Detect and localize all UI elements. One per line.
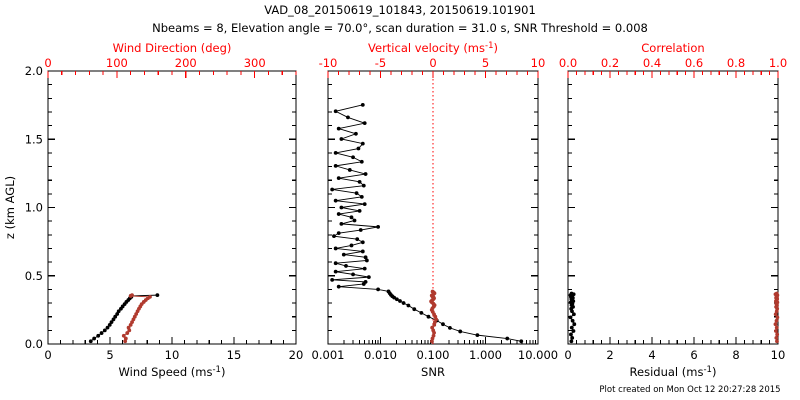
series-point bbox=[364, 172, 368, 176]
series-point bbox=[148, 295, 152, 299]
xtick-label-wind: 5 bbox=[106, 348, 113, 362]
panel-frame-wind bbox=[48, 71, 296, 344]
series-point bbox=[346, 116, 350, 120]
series-point bbox=[774, 329, 778, 333]
xaxis-top-label-residual: Correlation bbox=[641, 41, 704, 55]
xtick-label-residual: 10 bbox=[771, 348, 786, 362]
series-point bbox=[458, 330, 462, 334]
series-point bbox=[130, 293, 134, 297]
series-point bbox=[350, 244, 354, 248]
series-point bbox=[337, 176, 341, 180]
series-point bbox=[337, 231, 341, 235]
series-point bbox=[342, 253, 346, 257]
vad-profile-figure: VAD_08_20150619_101843, 20150619.101901N… bbox=[0, 0, 800, 400]
series-point bbox=[361, 103, 365, 107]
series-point bbox=[441, 322, 445, 326]
series-line-snr bbox=[332, 105, 521, 341]
series-point bbox=[330, 188, 334, 192]
series-point bbox=[353, 219, 357, 223]
xtick-label-wind: 10 bbox=[165, 348, 180, 362]
xtick-label-wind: 15 bbox=[227, 348, 242, 362]
series-point bbox=[334, 199, 338, 203]
series-point bbox=[332, 234, 336, 238]
series-point bbox=[359, 228, 363, 232]
xtick-label-residual: 0 bbox=[564, 348, 571, 362]
panel-frame-residual bbox=[568, 71, 778, 344]
xtick-top-label-residual: 1.0 bbox=[769, 56, 787, 70]
series-point bbox=[572, 322, 576, 326]
series-point bbox=[360, 160, 364, 164]
ytick-label: 1.5 bbox=[25, 132, 43, 146]
series-point bbox=[363, 267, 367, 271]
series-point bbox=[569, 333, 573, 337]
series-point bbox=[570, 326, 574, 330]
series-point bbox=[103, 328, 107, 332]
series-point bbox=[334, 164, 338, 168]
xaxis-top-label-wind: Wind Direction (deg) bbox=[113, 41, 232, 55]
series-point bbox=[355, 191, 359, 195]
series-point bbox=[448, 326, 452, 330]
series-point bbox=[427, 315, 431, 319]
figure-title: VAD_08_20150619_101843, 20150619.101901 bbox=[264, 3, 536, 17]
ytick-label: 0.0 bbox=[25, 337, 43, 351]
series-point bbox=[155, 293, 159, 297]
ytick-label: 2.0 bbox=[25, 64, 43, 78]
series-point bbox=[376, 225, 380, 229]
series-point bbox=[334, 247, 338, 251]
series-point bbox=[361, 142, 365, 146]
xtick-top-label-residual: 0.2 bbox=[601, 56, 619, 70]
series-point bbox=[340, 206, 344, 210]
xaxis-top-label-snr: Vertical velocity (ms-1) bbox=[368, 41, 498, 55]
series-point bbox=[89, 339, 93, 343]
series-point bbox=[344, 264, 348, 268]
series-point bbox=[775, 333, 779, 337]
xtick-label-snr: 10.000 bbox=[518, 348, 558, 362]
series-point bbox=[340, 137, 344, 141]
series-point bbox=[774, 322, 778, 326]
series-point bbox=[358, 180, 362, 184]
series-point bbox=[475, 333, 479, 337]
xtick-label-residual: 4 bbox=[648, 348, 655, 362]
series-point bbox=[419, 311, 423, 315]
series-point bbox=[775, 326, 779, 330]
xtick-label-residual: 8 bbox=[732, 348, 739, 362]
xtick-top-label-snr: 10 bbox=[531, 56, 546, 70]
xaxis-label-residual: Residual (ms-1) bbox=[630, 365, 717, 379]
series-point bbox=[351, 155, 355, 159]
xtick-label-snr: 0.010 bbox=[364, 348, 397, 362]
series-point bbox=[363, 202, 367, 206]
series-point bbox=[412, 307, 416, 311]
series-point bbox=[100, 331, 104, 335]
xtick-top-label-residual: 0.0 bbox=[559, 56, 577, 70]
xtick-top-label-residual: 0.6 bbox=[685, 56, 703, 70]
xtick-label-snr: 0.100 bbox=[417, 348, 450, 362]
creation-timestamp: Plot created on Mon Oct 12 20:27:28 2015 bbox=[599, 385, 780, 395]
series-point bbox=[775, 292, 779, 296]
xtick-label-residual: 6 bbox=[690, 348, 697, 362]
xtick-top-label-residual: 0.4 bbox=[643, 56, 661, 70]
plot-canvas: VAD_08_20150619_101843, 20150619.101901N… bbox=[0, 0, 800, 400]
xaxis-label-snr: SNR bbox=[421, 365, 445, 379]
series-point bbox=[570, 336, 574, 340]
series-point bbox=[570, 292, 574, 296]
series-point bbox=[505, 337, 509, 341]
series-point bbox=[354, 132, 358, 136]
xtick-label-wind: 0 bbox=[44, 348, 51, 362]
xtick-top-label-wind: 0 bbox=[44, 56, 51, 70]
xtick-top-label-snr: -10 bbox=[319, 56, 338, 70]
xtick-top-label-wind: 200 bbox=[175, 56, 197, 70]
series-point bbox=[350, 215, 354, 219]
series-point bbox=[569, 315, 573, 319]
series-point bbox=[361, 240, 365, 244]
series-point bbox=[360, 195, 364, 199]
series-point bbox=[774, 336, 778, 340]
series-point bbox=[364, 255, 368, 259]
series-point bbox=[355, 237, 359, 241]
series-point bbox=[775, 319, 779, 323]
figure-subtitle: Nbeams = 8, Elevation angle = 70.0°, sca… bbox=[152, 21, 648, 35]
series-point bbox=[431, 290, 435, 294]
series-point bbox=[361, 250, 365, 254]
series-point bbox=[96, 334, 100, 338]
series-point bbox=[363, 121, 367, 125]
series-point bbox=[334, 261, 338, 265]
xtick-label-wind: 20 bbox=[289, 348, 304, 362]
series-point bbox=[367, 275, 371, 279]
ytick-label: 0.5 bbox=[25, 269, 43, 283]
series-point bbox=[334, 270, 338, 274]
series-point bbox=[337, 127, 341, 131]
series-point bbox=[572, 329, 576, 333]
series-point bbox=[376, 288, 380, 292]
series-point bbox=[92, 337, 96, 341]
xtick-top-label-wind: 100 bbox=[106, 56, 128, 70]
series-point bbox=[337, 285, 341, 289]
xtick-top-label-snr: 5 bbox=[482, 56, 489, 70]
series-point bbox=[337, 212, 341, 216]
series-point bbox=[340, 222, 344, 226]
xtick-top-label-wind: 300 bbox=[244, 56, 266, 70]
series-point bbox=[351, 272, 355, 276]
series-point bbox=[519, 339, 523, 343]
xtick-top-label-residual: 0.8 bbox=[727, 56, 745, 70]
series-point bbox=[402, 301, 406, 305]
series-point bbox=[330, 278, 334, 282]
series-point bbox=[387, 290, 391, 294]
xtick-label-snr: 1.000 bbox=[469, 348, 502, 362]
series-point bbox=[334, 109, 338, 113]
series-point bbox=[571, 319, 575, 323]
xtick-top-label-snr: -5 bbox=[375, 56, 386, 70]
series-point bbox=[362, 184, 366, 188]
series-point bbox=[569, 339, 573, 343]
series-point bbox=[407, 304, 411, 308]
yaxis-label: z (km AGL) bbox=[3, 176, 17, 239]
xtick-label-snr: 0.001 bbox=[312, 348, 345, 362]
series-point bbox=[358, 209, 362, 213]
series-point bbox=[775, 339, 779, 343]
ytick-label: 1.0 bbox=[25, 201, 43, 215]
series-point bbox=[357, 147, 361, 151]
series-point bbox=[348, 168, 352, 172]
xtick-top-label-snr: 0 bbox=[429, 56, 436, 70]
series-point bbox=[334, 151, 338, 155]
xtick-label-residual: 2 bbox=[606, 348, 613, 362]
xaxis-label-wind: Wind Speed (ms-1) bbox=[119, 365, 226, 379]
series-point bbox=[122, 334, 126, 338]
series-point bbox=[364, 280, 368, 284]
